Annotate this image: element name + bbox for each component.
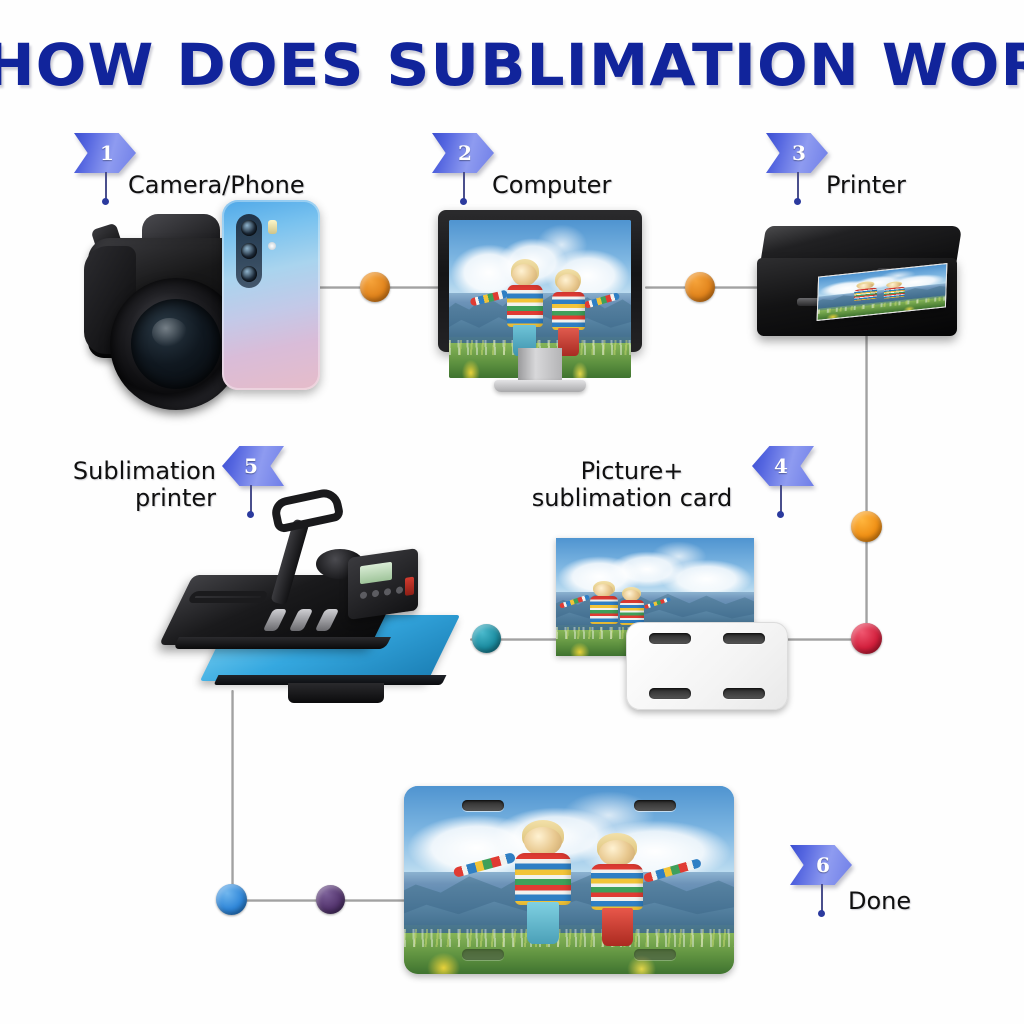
plate-mount-slot-top-right [723,633,765,644]
monitor-stand-base [494,380,586,392]
inkjet-printer [757,226,967,346]
heat-press-button-3[interactable] [384,588,391,596]
step-number-4: 4 [752,446,814,486]
plate-mount-slot-bottom-right [634,949,676,960]
step-number-5: 5 [222,446,284,486]
step-number-6: 6 [790,845,852,885]
heat-press-base-foot [288,683,384,703]
step-pin-stem-3 [797,172,799,200]
phone-flash-icon [268,220,277,234]
heat-press-handle[interactable] [269,486,345,534]
child-trousers [527,902,560,944]
photo-child-left [588,583,622,637]
step-label-1: Camera/Phone [128,172,305,199]
heat-press-button-1[interactable] [360,591,367,599]
photo-child-right [589,839,648,944]
plate-mount-slot-bottom-right [723,688,765,699]
step-label-3: Printer [826,172,906,199]
connector-line-printer-down [865,330,868,642]
blank-sublimation-license-plate [626,622,788,710]
child-sweater [507,285,543,327]
step-marker-2[interactable]: 2 [432,133,494,173]
heat-press-pressure-knobs [263,609,346,631]
child-sweater [552,292,585,330]
child-head [557,274,579,294]
child-sweater [620,600,644,625]
photo-child-right [549,272,589,354]
phone-camera-module [236,214,262,288]
connector-dot-plate-junction [316,885,345,914]
photo-child-right [882,281,908,306]
photo-kids-mountain [404,786,734,974]
heat-press-power-switch[interactable] [405,577,414,596]
infographic-canvas: HOW DOES SUBLIMATION WORK 1 Camera/Phone [0,0,1024,1024]
step-number-2: 2 [432,133,494,173]
step-pin-dot-6 [818,910,825,917]
pressure-knob-3 [315,609,340,631]
child-sweater [590,596,618,624]
smartphone [222,200,320,390]
connector-dot-press-down [216,884,247,915]
photo-child-left [513,825,576,942]
step-pin-dot-4 [777,511,784,518]
heat-press-button-4[interactable] [396,586,403,594]
step-marker-6[interactable]: 6 [790,845,852,885]
finished-license-plate [404,786,734,974]
heat-press-display [360,562,392,584]
step-pin-dot-2 [460,198,467,205]
step-label-2: Computer [492,172,611,199]
photo-child-left [851,281,880,309]
step-marker-5[interactable]: 5 [222,446,284,486]
phone-camera-lens-3 [241,266,257,282]
swing-away-heat-press [160,487,460,727]
child-sweater [853,287,876,301]
plate-mount-slot-bottom-left [649,688,691,699]
step-marker-4[interactable]: 4 [752,446,814,486]
step-pin-stem-4 [780,485,782,513]
phone-sensor-icon [268,242,276,250]
heat-press-button-2[interactable] [372,590,379,598]
phone-camera-lens-1 [241,220,257,236]
heat-press-side-handle [187,591,269,603]
step-pin-dot-1 [102,198,109,205]
monitor-stand-neck [518,348,562,384]
plate-mount-slot-top-left [649,633,691,644]
photo-child-left [504,263,548,355]
child-sweater [515,853,570,904]
step-label-6: Done [848,888,911,915]
child-sweater [591,864,643,910]
step-pin-dot-3 [794,198,801,205]
step-number-3: 3 [766,133,828,173]
phone-camera-lens-2 [241,243,257,259]
connector-dot-camera-to-computer [360,272,390,302]
step-pin-stem-2 [463,172,465,200]
child-head [594,584,613,597]
connector-dot-press-to-card [472,624,501,653]
child-head [524,827,562,856]
child-trousers [602,908,633,946]
plate-mount-slot-bottom-left [462,949,504,960]
connector-dot-card-junction [851,623,882,654]
connector-dot-computer-to-printer [685,272,715,302]
step-label-4: Picture+ sublimation card [520,458,744,512]
child-sweater [884,286,905,298]
step-marker-3[interactable]: 3 [766,133,828,173]
plate-mount-slot-top-left [462,800,504,811]
step-marker-1[interactable]: 1 [74,133,136,173]
connector-dot-printer-down [851,511,882,542]
child-head [599,840,635,866]
plate-mount-slot-top-right [634,800,676,811]
page-title: HOW DOES SUBLIMATION WORK [0,36,1024,94]
step-pin-stem-1 [105,172,107,200]
photo-sky [556,538,754,592]
child-head [512,264,536,286]
heat-press-upper-edge [173,637,391,649]
heat-press-control-box[interactable] [348,548,418,620]
desktop-monitor [438,210,642,395]
step-number-1: 1 [74,133,136,173]
step-pin-stem-6 [821,884,823,912]
pressure-knob-2 [289,609,314,631]
